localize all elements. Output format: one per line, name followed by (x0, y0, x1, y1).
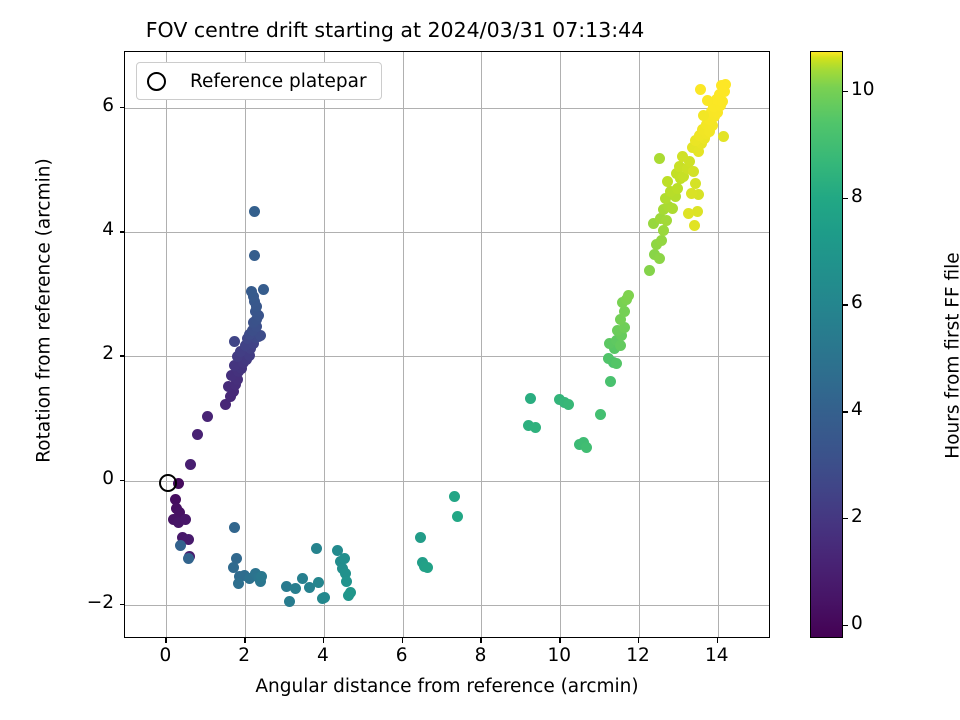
scatter-point (249, 206, 260, 217)
scatter-point (202, 411, 213, 422)
colorbar-tick (843, 91, 848, 92)
scatter-point (661, 215, 672, 226)
x-axis-tick (402, 638, 403, 643)
scatter-point (689, 220, 700, 231)
gridline-horizontal (125, 481, 769, 482)
x-axis-tick-label: 0 (135, 645, 195, 666)
scatter-point (672, 183, 683, 194)
x-axis-tick-label: 12 (608, 645, 668, 666)
y-axis-tick (120, 107, 125, 108)
x-axis-tick (323, 638, 324, 643)
scatter-point (702, 95, 713, 106)
scatter-point (345, 587, 356, 598)
scatter-point (530, 422, 541, 433)
gridline-horizontal (125, 232, 769, 233)
gridline-horizontal (125, 108, 769, 109)
x-axis-tick-label: 4 (293, 645, 353, 666)
scatter-point (644, 265, 655, 276)
scatter-point (563, 399, 574, 410)
colorbar-tick (843, 518, 848, 519)
scatter-point (656, 235, 667, 246)
gridline-vertical (560, 52, 561, 637)
scatter-point (284, 596, 295, 607)
scatter-point (581, 442, 592, 453)
colorbar-label: Hours from first FF file (943, 56, 960, 656)
scatter-point (688, 166, 699, 177)
plot-axes (124, 51, 770, 638)
scatter-point (683, 208, 694, 219)
y-axis-tick-label: 2 (58, 343, 114, 364)
scatter-point (695, 84, 706, 95)
scatter-point (249, 250, 260, 261)
y-axis-tick-label: 6 (58, 95, 114, 116)
scatter-point (677, 151, 688, 162)
scatter-point (718, 131, 729, 142)
gridline-horizontal (125, 356, 769, 357)
scatter-point (319, 592, 330, 603)
colorbar-tick-label: 8 (851, 186, 863, 207)
reference-platepar-marker-icon (147, 72, 166, 91)
scatter-point (525, 393, 536, 404)
scatter-point (615, 340, 626, 351)
x-axis-tick-label: 14 (687, 645, 747, 666)
scatter-point (662, 176, 673, 187)
x-axis-tick (480, 638, 481, 643)
x-axis-tick (559, 638, 560, 643)
scatter-point (595, 409, 606, 420)
y-axis-tick-label: −2 (58, 592, 114, 613)
chart-title: FOV centre drift starting at 2024/03/31 … (0, 18, 790, 42)
scatter-point (313, 577, 324, 588)
scatter-point (175, 540, 186, 551)
scatter-point (605, 376, 616, 387)
scatter-point (422, 562, 433, 573)
legend-label-reference-platepar: Reference platepar (190, 71, 367, 92)
colorbar-tick (843, 304, 848, 305)
y-axis-tick-label: 4 (58, 219, 114, 240)
scatter-point (229, 522, 240, 533)
colorbar (810, 51, 843, 638)
scatter-point (339, 553, 350, 564)
colorbar-tick (843, 625, 848, 626)
scatter-point (623, 290, 634, 301)
scatter-point (233, 578, 244, 589)
y-axis-label: Rotation from reference (arcmin) (34, 11, 55, 611)
x-axis-tick (165, 638, 166, 643)
colorbar-tick-label: 2 (851, 506, 863, 527)
x-axis-tick-label: 8 (450, 645, 510, 666)
scatter-point (698, 110, 709, 121)
scatter-point (452, 511, 463, 522)
scatter-point (611, 358, 622, 369)
scatter-point (258, 284, 269, 295)
x-axis-tick-label: 6 (372, 645, 432, 666)
scatter-point (185, 459, 196, 470)
gridline-horizontal (125, 605, 769, 606)
x-axis-tick (717, 638, 718, 643)
scatter-point (449, 491, 460, 502)
gridline-vertical (639, 52, 640, 637)
scatter-point (180, 514, 191, 525)
reference-platepar-point (159, 474, 177, 492)
colorbar-tick-label: 4 (851, 399, 863, 420)
scatter-point (658, 225, 669, 236)
y-axis-tick (120, 231, 125, 232)
gridline-vertical (324, 52, 325, 637)
x-axis-tick (638, 638, 639, 643)
scatter-point (311, 543, 322, 554)
x-axis-tick-label: 2 (214, 645, 274, 666)
scatter-point (183, 553, 194, 564)
scatter-point (720, 79, 731, 90)
gridline-vertical (481, 52, 482, 637)
colorbar-tick-label: 10 (851, 79, 875, 100)
figure-canvas: FOV centre drift starting at 2024/03/31 … (0, 0, 960, 720)
x-axis-label: Angular distance from reference (arcmin) (124, 676, 770, 697)
colorbar-tick (843, 198, 848, 199)
x-axis-tick-label: 10 (529, 645, 589, 666)
x-axis-tick (244, 638, 245, 643)
scatter-point (415, 532, 426, 543)
scatter-point (667, 203, 678, 214)
y-axis-tick (120, 604, 125, 605)
colorbar-tick-label: 6 (851, 292, 863, 313)
y-axis-tick (120, 480, 125, 481)
scatter-point (654, 153, 665, 164)
scatter-point (654, 253, 665, 264)
y-axis-tick (120, 355, 125, 356)
scatter-point (290, 583, 301, 594)
gridline-vertical (166, 52, 167, 637)
colorbar-tick (843, 411, 848, 412)
y-axis-tick-label: 0 (58, 468, 114, 489)
plot-area (125, 52, 769, 637)
scatter-point (341, 576, 352, 587)
colorbar-tick-label: 0 (851, 613, 863, 634)
legend[interactable]: Reference platepar (136, 62, 382, 100)
scatter-point (192, 429, 203, 440)
gridline-vertical (403, 52, 404, 637)
